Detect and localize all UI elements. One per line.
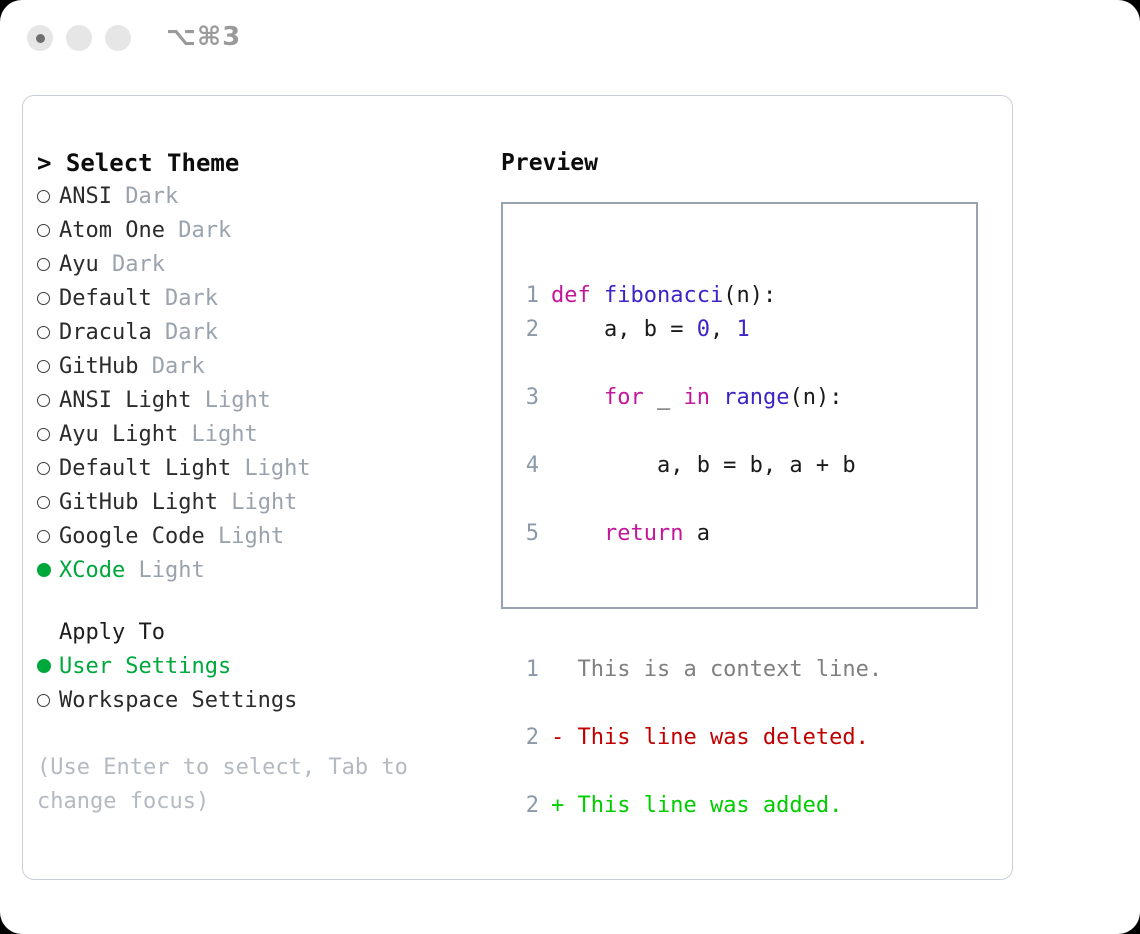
window-controls <box>27 25 131 51</box>
theme-option-default-light[interactable]: Default Light Light <box>37 452 477 486</box>
preview-box: 1def fibonacci(n): 2 a, b = 0, 1 3 for _… <box>501 202 978 609</box>
diff-marker: + <box>551 793 564 818</box>
theme-name: GitHub Light <box>59 486 218 520</box>
apply-to-option-list: User Settings Workspace Settings <box>37 650 477 718</box>
theme-name: Default Light <box>59 452 231 486</box>
theme-tag: Light <box>205 384 271 418</box>
code-sample: 1def fibonacci(n): 2 a, b = 0, 1 3 for _… <box>517 245 882 891</box>
radio-unselected-icon <box>37 315 59 349</box>
theme-name: Atom One <box>59 214 165 248</box>
diff-text: This is a context line. <box>551 657 882 682</box>
code-line: 4 a, b = b, a + b <box>517 449 882 483</box>
radio-unselected-icon <box>37 485 59 519</box>
radio-unselected-icon <box>37 683 59 717</box>
theme-option-default[interactable]: Default Dark <box>37 282 477 316</box>
window-dot-two[interactable] <box>66 25 92 51</box>
gutter-line-number: 2 <box>517 313 539 347</box>
radio-unselected-icon <box>37 349 59 383</box>
apply-to-heading: Apply To <box>37 616 477 650</box>
theme-option-ansi[interactable]: ANSI Dark <box>37 180 477 214</box>
diff-text: This line was added. <box>564 793 842 818</box>
theme-option-list: ANSI Dark Atom One Dark Ayu Dark <box>37 180 477 588</box>
gutter-line-number: 2 <box>517 721 539 755</box>
theme-name: ANSI Light <box>59 384 191 418</box>
select-theme-heading: > Select Theme <box>37 146 477 180</box>
theme-name: Google Code <box>59 520 205 554</box>
title-bar: ⌥⌘3 <box>0 0 1140 80</box>
gutter-line-number: 2 <box>517 789 539 823</box>
diff-line-context: 1 This is a context line. <box>517 653 882 687</box>
theme-tag: Dark <box>178 214 231 248</box>
keyboard-hint-text: (Use Enter to select, Tab to change focu… <box>37 751 447 819</box>
theme-option-ayu[interactable]: Ayu Dark <box>37 248 477 282</box>
theme-tag: Light <box>218 520 284 554</box>
theme-name: Default <box>59 282 152 316</box>
code-line: 1def fibonacci(n): <box>517 283 776 308</box>
window-dot-three[interactable] <box>105 25 131 51</box>
diff-line-deleted: 2- This line was deleted. <box>517 721 882 755</box>
radio-unselected-icon <box>37 247 59 281</box>
theme-tag: Dark <box>152 350 205 384</box>
gutter-line-number: 1 <box>517 653 539 687</box>
theme-name: Ayu Light <box>59 418 178 452</box>
theme-tag: Light <box>138 554 204 588</box>
radio-unselected-icon <box>37 451 59 485</box>
theme-tag: Light <box>231 486 297 520</box>
keyboard-shortcut-label: ⌥⌘3 <box>166 22 241 52</box>
preview-heading: Preview <box>501 146 1001 180</box>
theme-name: Dracula <box>59 316 152 350</box>
theme-option-atom-one[interactable]: Atom One Dark <box>37 214 477 248</box>
theme-name: GitHub <box>59 350 138 384</box>
gutter-line-number: 1 <box>517 279 539 313</box>
theme-tag: Light <box>191 418 257 452</box>
theme-tag: Dark <box>165 316 218 350</box>
code-line: 3 for _ in range(n): <box>517 381 882 415</box>
theme-option-github[interactable]: GitHub Dark <box>37 350 477 384</box>
record-dot-icon <box>36 34 45 43</box>
theme-name: Ayu <box>59 248 99 282</box>
main-panel: > Select Theme ANSI Dark Atom One Dark A <box>22 95 1013 880</box>
theme-name: ANSI <box>59 180 112 214</box>
apply-to-label: Workspace Settings <box>59 684 297 718</box>
diff-marker: - <box>551 725 564 750</box>
theme-tag: Dark <box>125 180 178 214</box>
theme-option-xcode[interactable]: XCode Light <box>37 554 477 588</box>
theme-tag: Dark <box>165 282 218 316</box>
apply-to-workspace-settings[interactable]: Workspace Settings <box>37 684 477 718</box>
theme-tag: Light <box>244 452 310 486</box>
radio-unselected-icon <box>37 179 59 213</box>
theme-tag: Dark <box>112 248 165 282</box>
gutter-line-number: 4 <box>517 449 539 483</box>
theme-option-ansi-light[interactable]: ANSI Light Light <box>37 384 477 418</box>
theme-option-dracula[interactable]: Dracula Dark <box>37 316 477 350</box>
gutter-line-number: 3 <box>517 381 539 415</box>
theme-selector-column: > Select Theme ANSI Dark Atom One Dark A <box>37 146 477 819</box>
apply-to-user-settings[interactable]: User Settings <box>37 650 477 684</box>
diff-text: This line was deleted. <box>564 725 869 750</box>
theme-name: XCode <box>59 554 125 588</box>
theme-option-ayu-light[interactable]: Ayu Light Light <box>37 418 477 452</box>
radio-selected-icon <box>37 553 59 587</box>
preview-column: Preview 1def fibonacci(n): 2 a, b = 0, 1… <box>501 146 1001 609</box>
radio-unselected-icon <box>37 519 59 553</box>
code-line: 5 return a <box>517 517 882 551</box>
diff-line-added: 2+ This line was added. <box>517 789 882 823</box>
apply-to-label: User Settings <box>59 650 231 684</box>
code-spacer <box>517 585 882 619</box>
radio-unselected-icon <box>37 383 59 417</box>
app-window: ⌥⌘3 > Select Theme ANSI Dark Atom One Da… <box>0 0 1140 934</box>
theme-option-google-code[interactable]: Google Code Light <box>37 520 477 554</box>
radio-unselected-icon <box>37 417 59 451</box>
gutter-line-number: 5 <box>517 517 539 551</box>
theme-option-github-light[interactable]: GitHub Light Light <box>37 486 477 520</box>
radio-unselected-icon <box>37 213 59 247</box>
record-indicator-dot[interactable] <box>27 25 53 51</box>
radio-selected-icon <box>37 649 59 683</box>
code-line: 2 a, b = 0, 1 <box>517 313 882 347</box>
radio-unselected-icon <box>37 281 59 315</box>
